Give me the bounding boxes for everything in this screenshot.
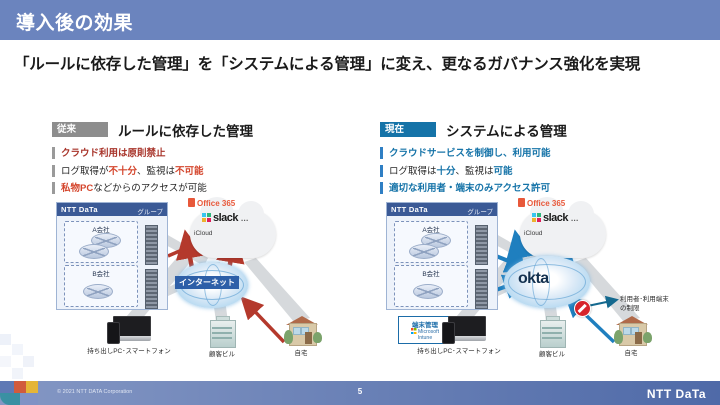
badge-before: 従来	[52, 122, 108, 137]
house-icon	[283, 314, 319, 344]
panel-title-right: システムによる管理	[446, 120, 567, 140]
internet-label: インターネット	[175, 276, 239, 289]
badge-now: 現在	[380, 122, 436, 137]
page-title: 導入後の効果	[16, 8, 133, 35]
group-header: NTT DaTa グループ	[57, 203, 167, 216]
ntt-data-footer-logo: NTT DaTa	[647, 387, 706, 401]
device-label: 持ち出しPC･スマートフォン	[86, 345, 172, 355]
device-office: 顧客ビル	[192, 316, 252, 358]
bullet-text: 、監視は	[456, 166, 494, 177]
device-label: 持ち出しPC･スマートフォン	[416, 345, 502, 355]
restriction-note: 利用者･利用端末 の制限	[620, 296, 669, 313]
device-label: 顧客ビル	[522, 348, 582, 358]
bullet-text: ログ取得は	[389, 166, 437, 177]
group-suffix-label: グループ	[137, 206, 163, 216]
network-node-icon	[83, 284, 113, 299]
bullet-item: 私物PCなどからのアクセスが可能	[52, 181, 372, 196]
tree-icon	[284, 330, 293, 344]
title-bar: 導入後の効果	[0, 0, 720, 40]
corner-decoration	[0, 330, 34, 382]
firewall-icon	[475, 225, 488, 265]
bullet-item: ログ取得が不十分、監視は不可能	[52, 164, 372, 179]
office365-icon	[188, 198, 195, 207]
company-a-box: A会社	[394, 221, 468, 263]
bullet-text: ログ取得が	[61, 166, 109, 177]
group-box-left: NTT DaTa グループ A会社 B会社	[56, 202, 168, 310]
diagram-after: NTT DaTa グループ A会社 B会社 Office 365 slack ……	[378, 196, 708, 371]
firewall-icon	[145, 269, 158, 309]
bullet-highlight: 十分	[437, 166, 456, 177]
icloud-label: iCloud	[524, 230, 542, 237]
device-office: 顧客ビル	[522, 316, 582, 358]
bullet-list-left: クラウド利用は原則禁止 ログ取得が不十分、監視は不可能 私物PCなどからのアクセ…	[52, 146, 372, 199]
device-home: 自宅	[600, 314, 662, 357]
bullet-text: クラウド利用は原則禁止	[61, 148, 166, 159]
diagram-before: NTT DaTa グループ A会社 B会社 Office 365 slack ……	[48, 196, 378, 371]
bullet-highlight: 可能	[494, 166, 513, 177]
slack-icon	[202, 213, 211, 222]
office365-label: Office 365	[188, 198, 235, 208]
smartphone-icon	[107, 322, 120, 344]
firewall-icon	[475, 269, 488, 309]
company-b-box: B会社	[64, 265, 138, 307]
group-header: NTT DaTa グループ	[387, 203, 497, 216]
bullet-text: クラウドサービスを制御し、利用可能	[389, 148, 551, 159]
company-b-label: B会社	[65, 268, 137, 278]
smartphone-icon	[442, 322, 455, 344]
network-node-icon	[409, 244, 439, 259]
device-label: 自宅	[600, 347, 662, 357]
bullet-item: クラウドサービスを制御し、利用可能	[380, 146, 700, 161]
prohibition-icon	[574, 300, 591, 317]
bullet-list-right: クラウドサービスを制御し、利用可能 ログ取得は十分、監視は可能 適切な利用者・端…	[380, 146, 700, 199]
office365-icon	[518, 198, 525, 207]
bullet-item: ログ取得は十分、監視は可能	[380, 164, 700, 179]
more-services-ellipsis: …	[571, 214, 579, 223]
slide: 導入後の効果 「ルールに依存した管理」を「システムによる管理」に変え、更なるガバ…	[0, 0, 720, 405]
building-icon	[207, 316, 237, 346]
company-b-label: B会社	[395, 268, 467, 278]
ntt-data-logo: NTT DaTa	[391, 205, 428, 214]
building-icon	[537, 316, 567, 346]
device-mobile: 持ち出しPC･スマートフォン	[86, 316, 172, 355]
footer-decoration	[0, 381, 46, 405]
more-services-ellipsis: …	[241, 214, 249, 223]
slack-label: slack …	[532, 212, 578, 224]
house-icon	[613, 314, 649, 344]
bullet-highlight: 不可能	[175, 166, 204, 177]
tree-icon	[313, 332, 322, 343]
ntt-data-logo: NTT DaTa	[61, 205, 98, 214]
company-a-box: A会社	[64, 221, 138, 263]
laptop-icon	[107, 316, 151, 342]
bullet-item: 適切な利用者・端末のみアクセス許可	[380, 181, 700, 196]
panel-title-left: ルールに依存した管理	[118, 120, 253, 140]
device-mobile: 持ち出しPC･スマートフォン	[416, 316, 502, 355]
bullet-text: 、監視は	[137, 166, 175, 177]
slack-label: slack …	[202, 212, 248, 224]
icloud-label: iCloud	[194, 230, 212, 237]
tree-icon	[614, 330, 623, 344]
slack-icon	[532, 213, 541, 222]
laptop-icon	[442, 316, 486, 342]
device-home: 自宅	[270, 314, 332, 357]
firewall-icon	[145, 225, 158, 265]
bullet-highlight: 不十分	[109, 166, 138, 177]
bullet-item: クラウド利用は原則禁止	[52, 146, 372, 161]
group-box-right: NTT DaTa グループ A会社 B会社	[386, 202, 498, 310]
device-label: 顧客ビル	[192, 348, 252, 358]
network-node-icon	[79, 244, 109, 259]
device-label: 自宅	[270, 347, 332, 357]
company-b-box: B会社	[394, 265, 468, 307]
bullet-highlight: 私物PC	[61, 183, 93, 194]
okta-label: okta	[518, 270, 549, 288]
footer-bar: © 2021 NTT DATA Corporation 5 NTT DaTa	[0, 381, 720, 405]
network-node-icon	[413, 284, 443, 299]
bullet-text: 適切な利用者・端末のみアクセス許可	[389, 183, 550, 194]
bullet-text: などからのアクセスが可能	[93, 183, 207, 194]
group-suffix-label: グループ	[467, 206, 493, 216]
page-number: 5	[0, 387, 720, 396]
subtitle: 「ルールに依存した管理」を「システムによる管理」に変え、更なるガバナンス強化を実…	[14, 52, 714, 74]
tree-icon	[643, 332, 652, 343]
office365-label: Office 365	[518, 198, 565, 208]
